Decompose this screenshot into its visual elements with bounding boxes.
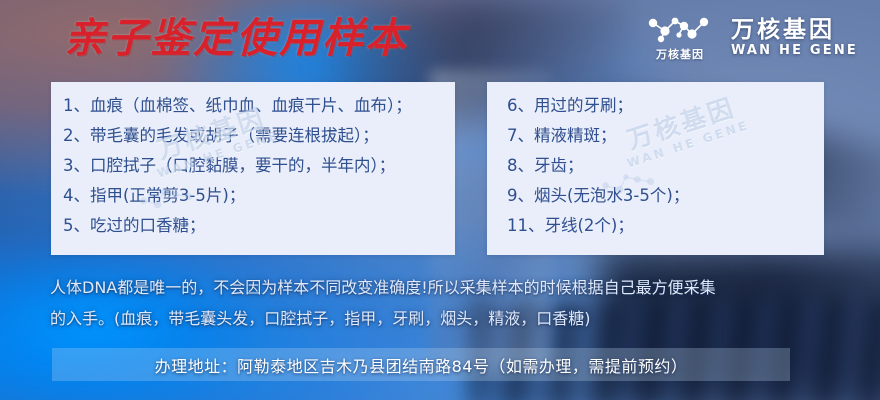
list-item: 9、烟头(无泡水3-5个)； bbox=[507, 181, 824, 211]
list-item: 6、用过的牙刷； bbox=[507, 91, 824, 121]
list-item: 11、牙线(2个)； bbox=[507, 211, 824, 241]
sample-list-panel-left: 1、血痕（血棉签、纸巾血、血痕干片、血布）； 2、带毛囊的毛发或胡子（需要连根拔… bbox=[51, 82, 455, 255]
list-item: 3、口腔拭子（口腔黏膜，要干的，半年内）； bbox=[63, 151, 455, 181]
page-title: 亲子鉴定使用样本 bbox=[64, 18, 408, 59]
brand-mark-label: 万核基因 bbox=[656, 46, 704, 62]
brand-mark: 万核基因 bbox=[645, 14, 715, 62]
list-item: 7、精液精斑； bbox=[507, 121, 824, 151]
sample-list-left: 1、血痕（血棉签、纸巾血、血痕干片、血布）； 2、带毛囊的毛发或胡子（需要连根拔… bbox=[51, 82, 455, 241]
brand-wordmark: 万核基因 WAN HE GENE bbox=[731, 18, 858, 58]
brand-name-en: WAN HE GENE bbox=[731, 44, 858, 58]
address-text: 办理地址：阿勒泰地区吉木乃县团结南路84号（如需办理，需提前预约） bbox=[155, 353, 688, 377]
note-line-1: 人体DNA都是唯一的，不会因为样本不同改变准确度!所以采集样本的时候根据自己最方… bbox=[50, 272, 840, 303]
list-item: 8、牙齿； bbox=[507, 151, 824, 181]
promo-poster: 亲子鉴定使用样本 bbox=[0, 0, 880, 400]
brand-name-cn: 万核基因 bbox=[731, 18, 835, 42]
note-paragraph: 人体DNA都是唯一的，不会因为样本不同改变准确度!所以采集样本的时候根据自己最方… bbox=[50, 272, 840, 334]
address-bar: 办理地址：阿勒泰地区吉木乃县团结南路84号（如需办理，需提前预约） bbox=[52, 348, 790, 381]
brand-logo: 万核基因 万核基因 WAN HE GENE bbox=[645, 14, 858, 62]
note-line-2: 的入手。(血痕，带毛囊头发，口腔拭子，指甲，牙刷，烟头，精液，口香糖) bbox=[50, 303, 840, 334]
list-item: 2、带毛囊的毛发或胡子（需要连根拔起）； bbox=[63, 121, 455, 151]
list-item: 4、指甲(正常剪3-5片)； bbox=[63, 181, 455, 211]
list-item: 5、吃过的口香糖； bbox=[63, 211, 455, 241]
list-item: 1、血痕（血棉签、纸巾血、血痕干片、血布）； bbox=[63, 91, 455, 121]
dna-molecule-icon bbox=[645, 14, 715, 44]
sample-list-right: 6、用过的牙刷； 7、精液精斑； 8、牙齿； 9、烟头(无泡水3-5个)； 11… bbox=[487, 82, 824, 241]
